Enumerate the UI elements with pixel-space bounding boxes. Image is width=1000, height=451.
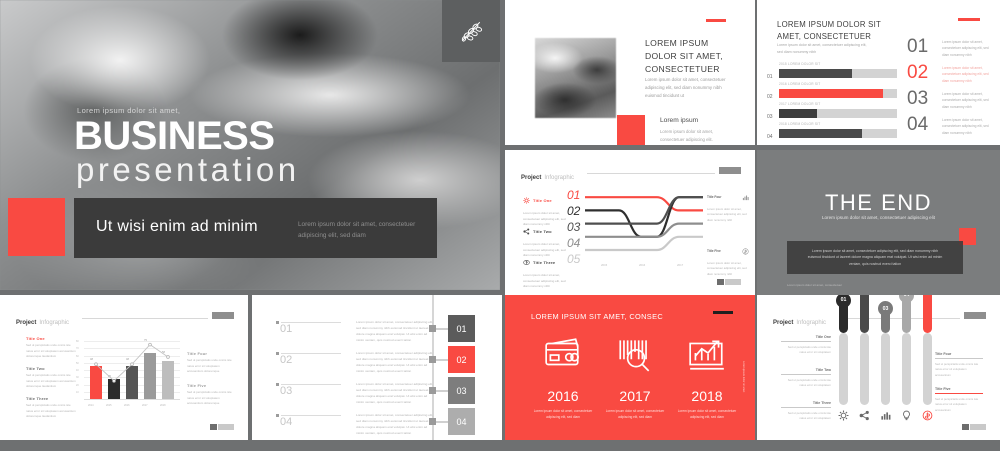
- timeline-node: [429, 418, 436, 425]
- growth-chart-icon: [687, 334, 727, 374]
- legend-text: Lorem ipsum dolor sit amet, consectetuer…: [707, 207, 749, 223]
- share-icon: [523, 228, 530, 235]
- pager[interactable]: [210, 424, 234, 430]
- slide-image-text[interactable]: LOREM IPSUM DOLOR SIT AMET, CONSECTETUER…: [505, 0, 755, 145]
- legend-item: Title OneSed ut perspiciatis unde omnis …: [26, 336, 78, 360]
- leaf-branch-icon: [457, 17, 485, 45]
- number-text: Lorem ipsum dolor sit amet, consectetuer…: [942, 39, 990, 58]
- legend-title: Title Three: [533, 260, 555, 265]
- number-item: 01: [907, 37, 928, 56]
- item-number: 02: [280, 355, 292, 366]
- legend-text: Sed ut perspiciatis unde omnis iste natu…: [935, 397, 983, 413]
- legend-item: Title FourSed ut perspiciatis unde omnis…: [935, 352, 983, 378]
- legend-title: Title Five: [935, 387, 983, 391]
- item-text: Lorem ipsum dolor sit amet, consectetuer…: [356, 319, 434, 343]
- x-label: 2016: [639, 263, 645, 267]
- coin-icon: [523, 259, 530, 266]
- legend-text: Sed ut perspiciatis unde omnis iste natu…: [781, 411, 831, 422]
- slide-timeline-list[interactable]: 01Lorem ipsum dolor sit amet, consectetu…: [252, 295, 502, 440]
- list-item[interactable]: 01Lorem ipsum dolor sit amet, consectetu…: [276, 317, 476, 347]
- legend-item: Title TwoSed ut perspiciatis unde omnis …: [26, 366, 78, 390]
- the-end-box: Lorem ipsum dolor sit amet, consectetuer…: [787, 241, 963, 274]
- slide-red-icons[interactable]: LOREM IPSUM SIT AMET, CONSEC 2016Lorem i…: [505, 295, 755, 440]
- bar-index: 03: [767, 114, 773, 120]
- title-caption-bar: Ut wisi enim ad minim Lorem ipsum dolor …: [74, 198, 437, 258]
- bar-label: 2016 LOREM DOLOR SIT: [779, 82, 820, 86]
- legend-text: Sed ut perspiciatis unde omnis iste natu…: [781, 345, 831, 356]
- header-rule: [82, 318, 208, 319]
- infographic-header: ProjectInfographic: [16, 311, 234, 321]
- share-icon: [859, 410, 870, 421]
- slide8-heading: LOREM IPSUM SIT AMET, CONSEC: [531, 312, 663, 321]
- slider-icon: [858, 409, 871, 422]
- legend-text: Sed ut perspiciatis unde omnis iste natu…: [187, 358, 233, 375]
- bar-fill: [779, 89, 883, 98]
- item-text: Lorem ipsum dolor sit amet, consectetuer…: [356, 350, 434, 374]
- item-number: 04: [280, 417, 292, 428]
- the-end-footer: Lorem ipsum dolor sit amet, consectetuer: [787, 283, 842, 287]
- cell-icon-wrap: [599, 333, 671, 375]
- bar-index: 02: [767, 94, 773, 100]
- series-number: 05: [567, 252, 580, 266]
- legend-title: Title Four: [707, 195, 721, 199]
- series-number: 02: [567, 204, 580, 218]
- caption-sub: Lorem ipsum dolor sit amet, consectetuer…: [298, 220, 423, 241]
- content-photo: [535, 38, 616, 118]
- timeline-node: [429, 356, 436, 363]
- series-number: 03: [567, 220, 580, 234]
- legend-item: Title FourLorem ipsum dolor sit amet, co…: [707, 188, 749, 223]
- legend-title: Title Five: [707, 249, 721, 253]
- the-end-title: THE END: [825, 192, 932, 214]
- cell-text: Lorem ipsum dolor sit amet, consectetuer…: [527, 408, 599, 420]
- bullet-dot: [276, 414, 279, 417]
- timeline-connector: [436, 328, 448, 330]
- slider-track: [860, 333, 869, 405]
- slider-fill: [923, 295, 932, 333]
- page-title: BUSINESS: [74, 116, 275, 156]
- bar-track: [779, 89, 897, 98]
- line-chart: [585, 188, 703, 260]
- bar-row: 032017 LOREM DOLOR SIT: [767, 102, 897, 111]
- rule: [935, 393, 983, 394]
- legend-text: Sed ut perspiciatis unde omnis iste natu…: [26, 343, 78, 360]
- trend-line: [76, 341, 180, 407]
- rule: [781, 341, 831, 342]
- side-text: Lorem ipsum dolor sit amet: [742, 361, 745, 392]
- legend-title: Title Two: [781, 368, 831, 372]
- bulb-icon: [901, 410, 912, 421]
- cell-icon-wrap: [671, 333, 743, 375]
- slide2-subparagraph: Lorem ipsum dolor sit amet, consectetuer…: [660, 128, 736, 143]
- series-number: 01: [567, 188, 580, 202]
- item-number: 01: [280, 324, 292, 335]
- bar-fill: [779, 109, 817, 118]
- legend-item: Title ThreeLorem ipsum dolor sit amet, c…: [523, 253, 571, 290]
- legend-item: Title FiveSed ut perspiciatis unde omnis…: [935, 387, 983, 413]
- bar-fill: [779, 69, 852, 78]
- cell-icon-wrap: [527, 333, 599, 375]
- header-tag: [719, 167, 741, 174]
- slider-knob[interactable]: 01: [836, 295, 851, 308]
- number-text: Lorem ipsum dolor sit amet, consectetuer…: [942, 117, 990, 136]
- legend-text: Lorem ipsum dolor sit amet, consectetuer…: [707, 261, 749, 277]
- cell-text: Lorem ipsum dolor sit amet, consectetuer…: [671, 408, 743, 420]
- legend-item: Title FiveLorem ipsum dolor sit amet, co…: [707, 242, 749, 277]
- item-number: 03: [280, 386, 292, 397]
- slider-icon: [837, 409, 850, 422]
- accent-dash: [958, 18, 980, 21]
- list-item[interactable]: 04Lorem ipsum dolor sit amet, consectetu…: [276, 410, 476, 440]
- dollar-icon: [742, 248, 749, 255]
- legend-text: Sed ut perspiciatis unde omnis iste natu…: [26, 403, 78, 420]
- slide-sliders[interactable]: ProjectInfographic Title OneSed ut persp…: [757, 295, 1000, 440]
- legend-text: Sed ut perspiciatis unde omnis iste natu…: [26, 373, 78, 390]
- timeline-node: [429, 387, 436, 394]
- timeline-node: [429, 325, 436, 332]
- logo-box: [442, 0, 500, 62]
- timeline-badge[interactable]: 03: [448, 377, 475, 404]
- slide-bar-chart[interactable]: ProjectInfographic Title OneSed ut persp…: [0, 295, 248, 440]
- cell-year: 2018: [671, 389, 743, 403]
- list-item[interactable]: 03Lorem ipsum dolor sit amet, consectetu…: [276, 379, 476, 409]
- dollar-icon: [922, 410, 933, 421]
- barcode-search-icon: [615, 334, 655, 374]
- legend-title: Title One: [26, 336, 78, 341]
- header-tag: [964, 312, 986, 319]
- header-light: Infographic: [544, 175, 574, 181]
- bar-label: 2017 LOREM DOLOR SIT: [779, 102, 820, 106]
- bar-track: [779, 109, 897, 118]
- legend-title: Title Two: [533, 229, 552, 234]
- icon-cell[interactable]: 2016Lorem ipsum dolor sit amet, consecte…: [527, 333, 599, 420]
- slider-fill: [860, 295, 869, 333]
- legend-text: Sed ut perspiciatis unde omnis iste natu…: [935, 362, 983, 378]
- rule: [781, 407, 831, 408]
- item-text: Lorem ipsum dolor sit amet, consectetuer…: [356, 412, 434, 436]
- bar-row: 042018 LOREM DOLOR SIT: [767, 122, 897, 131]
- credit-card-icon: [543, 334, 583, 374]
- gear-icon: [523, 197, 530, 204]
- bullet-dot: [276, 352, 279, 355]
- header-rule: [839, 318, 960, 319]
- the-end-body: Lorem ipsum dolor sit amet, consectetuer…: [805, 248, 945, 267]
- timeline-connector: [436, 359, 448, 361]
- the-end-subtitle: Lorem ipsum dolor sit amet, consectetuer…: [822, 215, 935, 220]
- legend-title: Title Two: [26, 366, 78, 371]
- infographic-header: ProjectInfographic: [521, 166, 741, 176]
- bar-track: [779, 129, 897, 138]
- slider-track: [923, 333, 932, 405]
- chart-icon: [880, 410, 891, 421]
- x-label: 2015: [601, 263, 607, 267]
- bullet-dot: [276, 383, 279, 386]
- accent-square: [8, 198, 65, 256]
- legend-text: Lorem ipsum dolor sit amet, consectetuer…: [523, 273, 571, 290]
- slide-bars-numbers[interactable]: LOREM IPSUM DOLOR SIT AMET, CONSECTETUER…: [757, 0, 1000, 145]
- slide2-paragraph: Lorem ipsum dolor sit amet, consectetuer…: [645, 76, 731, 100]
- legend-text: Sed ut perspiciatis unde omnis iste natu…: [781, 378, 831, 389]
- cell-text: Lorem ipsum dolor sit amet, consectetuer…: [599, 408, 671, 420]
- item-text: Lorem ipsum dolor sit amet, consectetuer…: [356, 381, 434, 405]
- slider-icon: [879, 409, 892, 422]
- accent-dash: [713, 311, 733, 314]
- header-bold: Project: [521, 175, 541, 181]
- header-bold: Project: [16, 320, 36, 326]
- legend-title: Title Three: [781, 401, 831, 405]
- bar-fill: [779, 129, 862, 138]
- slider-knob[interactable]: 04: [899, 295, 914, 303]
- icon-cell[interactable]: 2018Lorem ipsum dolor sit amet, consecte…: [671, 333, 743, 420]
- bar-row: 012015 LOREM DOLOR SIT: [767, 62, 897, 71]
- slider-track: [881, 333, 890, 405]
- chart-icon: [742, 194, 749, 201]
- accent-square: [617, 115, 645, 145]
- legend-item: Title TwoSed ut perspiciatis unde omnis …: [781, 368, 831, 389]
- rule: [781, 374, 831, 375]
- bar-index: 01: [767, 74, 773, 80]
- cell-year: 2017: [599, 389, 671, 403]
- slide3-paragraph: Lorem ipsum dolor sit amet, consectetuer…: [777, 42, 869, 56]
- legend-item: Title FourSed ut perspiciatis unde omnis…: [187, 351, 233, 375]
- slide-the-end[interactable]: THE END Lorem ipsum dolor sit amet, cons…: [757, 150, 1000, 295]
- header-light: Infographic: [39, 320, 69, 326]
- list-item[interactable]: 02Lorem ipsum dolor sit amet, consectetu…: [276, 348, 476, 378]
- bar-index: 04: [767, 134, 773, 140]
- legend-title: Title Four: [187, 351, 233, 356]
- number-text: Lorem ipsum dolor sit amet, consectetuer…: [942, 65, 990, 84]
- number-item: 03: [907, 89, 928, 108]
- gear-icon: [838, 410, 849, 421]
- series-number: 04: [567, 236, 580, 250]
- pager[interactable]: [962, 424, 986, 430]
- timeline-badge[interactable]: 04: [448, 408, 475, 435]
- timeline-badge[interactable]: 01: [448, 315, 475, 342]
- number-text: Lorem ipsum dolor sit amet, consectetuer…: [942, 91, 990, 110]
- cell-year: 2016: [527, 389, 599, 403]
- legend-title: Title Five: [187, 383, 233, 388]
- icon-cell[interactable]: 2017Lorem ipsum dolor sit amet, consecte…: [599, 333, 671, 420]
- slider-track: [902, 333, 911, 405]
- slide-title[interactable]: Lorem ipsum dolor sit amet, BUSINESS pre…: [0, 0, 500, 290]
- legend-title: Title Four: [935, 352, 983, 356]
- legend-item: Title ThreeSed ut perspiciatis unde omni…: [26, 396, 78, 420]
- slider-icon: [900, 409, 913, 422]
- legend-item: Title FiveSed ut perspiciatis unde omnis…: [187, 383, 233, 407]
- legend-title: Title One: [781, 335, 831, 339]
- slide3-heading: LOREM IPSUM DOLOR SIT AMET, CONSECTETUER: [777, 19, 907, 43]
- number-item: 02: [907, 63, 928, 82]
- accent-dash: [706, 19, 726, 22]
- bar-row: 022016 LOREM DOLOR SIT: [767, 82, 897, 91]
- timeline-badge[interactable]: 02: [448, 346, 475, 373]
- x-label: 2017: [677, 263, 683, 267]
- legend-title: Title One: [533, 198, 552, 203]
- rule: [935, 358, 983, 359]
- page-subtitle: presentation: [76, 153, 300, 186]
- caption-title: Ut wisi enim ad minim: [96, 218, 258, 236]
- timeline-connector: [436, 421, 448, 423]
- slider-track: [839, 333, 848, 405]
- legend-item: Title OneSed ut perspiciatis unde omnis …: [781, 335, 831, 356]
- legend-text: Sed ut perspiciatis unde omnis iste natu…: [187, 390, 233, 407]
- bar-label: 2018 LOREM DOLOR SIT: [779, 122, 820, 126]
- bar-track: [779, 69, 897, 78]
- header-rule: [587, 173, 715, 174]
- bar-label: 2015 LOREM DOLOR SIT: [779, 62, 820, 66]
- slide2-subheading: Lorem ipsum: [660, 117, 698, 124]
- pager[interactable]: [717, 279, 741, 285]
- header-bold: Project: [773, 320, 793, 326]
- bar-chart-plot: 8070605040302010201448201525201648201775…: [76, 341, 180, 407]
- legend-item: Title ThreeSed ut perspiciatis unde omni…: [781, 401, 831, 422]
- legend-title: Title Three: [26, 396, 78, 401]
- slide-deck-canvas: Lorem ipsum dolor sit amet, BUSINESS pre…: [0, 0, 1000, 451]
- slide2-heading: LOREM IPSUM DOLOR SIT AMET, CONSECTETUER: [645, 37, 740, 76]
- header-tag: [212, 312, 234, 319]
- timeline-connector: [436, 390, 448, 392]
- header-light: Infographic: [796, 320, 826, 326]
- slide-line-infographic[interactable]: ProjectInfographic Title OneLorem ipsum …: [505, 150, 755, 295]
- bullet-dot: [276, 321, 279, 324]
- slider-icon: [921, 409, 934, 422]
- number-item: 04: [907, 115, 928, 134]
